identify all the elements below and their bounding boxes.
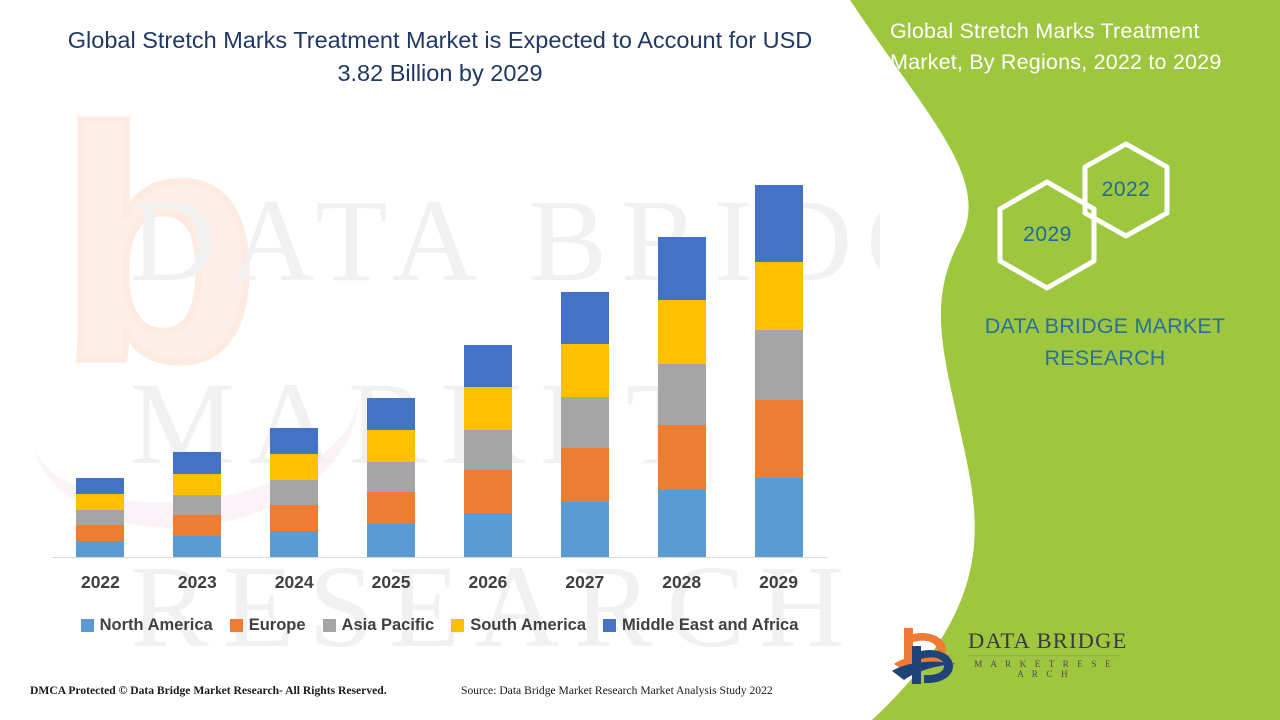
footer-source: Source: Data Bridge Market Research Mark…: [461, 684, 773, 697]
bar-segment: [367, 430, 415, 462]
hexagon-pair: 2022 2029: [975, 140, 1175, 280]
bar-segment: [367, 524, 415, 557]
bar-segment: [561, 292, 609, 344]
stacked-bar: [755, 185, 803, 557]
logo-wordmark: DATA BRIDGE M A R K E T R E S E A R C H: [968, 628, 1128, 679]
logo-mark-icon: [890, 624, 962, 686]
bar-segment: [270, 428, 318, 454]
plot-area: [52, 176, 827, 558]
legend-swatch-icon: [230, 619, 243, 632]
bar-segment: [755, 185, 803, 262]
stacked-bar: [367, 398, 415, 557]
bar-column-2028: [633, 176, 730, 557]
bar-group: [52, 176, 827, 557]
bar-column-2027: [536, 176, 633, 557]
legend-item[interactable]: Asia Pacific: [323, 616, 435, 635]
legend-label: Middle East and Africa: [622, 616, 798, 635]
x-axis-label-2026: 2026: [440, 572, 537, 593]
x-axis-label-2022: 2022: [52, 572, 149, 593]
legend-item[interactable]: Middle East and Africa: [603, 616, 798, 635]
bar-segment: [270, 531, 318, 557]
x-axis-labels: 20222023202420252026202720282029: [52, 572, 827, 593]
bar-segment: [367, 398, 415, 430]
legend-item[interactable]: North America: [81, 616, 213, 635]
bar-segment: [76, 510, 124, 525]
bar-segment: [173, 536, 221, 557]
bar-segment: [755, 262, 803, 330]
panel-title: Global Stretch Marks Treatment Market, B…: [890, 16, 1270, 78]
bar-segment: [561, 502, 609, 557]
legend-label: Asia Pacific: [342, 616, 435, 635]
bar-segment: [561, 397, 609, 448]
bar-segment: [464, 345, 512, 387]
bar-segment: [658, 237, 706, 300]
bar-column-2026: [440, 176, 537, 557]
bar-segment: [367, 462, 415, 492]
stacked-bar: [658, 237, 706, 557]
bar-column-2024: [246, 176, 343, 557]
legend-label: Europe: [249, 616, 306, 635]
legend-label: North America: [100, 616, 213, 635]
bar-segment: [173, 452, 221, 474]
bar-segment: [658, 490, 706, 557]
bar-column-2025: [343, 176, 440, 557]
bar-segment: [464, 430, 512, 470]
bar-segment: [76, 525, 124, 541]
bar-segment: [755, 330, 803, 400]
stacked-bar: [76, 478, 124, 557]
chart-legend: North AmericaEuropeAsia PacificSouth Ame…: [52, 616, 827, 635]
bar-segment: [76, 494, 124, 510]
stacked-bar: [561, 292, 609, 557]
x-axis-label-2027: 2027: [536, 572, 633, 593]
footer: DMCA Protected © Data Bridge Market Rese…: [0, 684, 880, 714]
stacked-bar: [270, 428, 318, 557]
bar-column-2022: [52, 176, 149, 557]
legend-item[interactable]: Europe: [230, 616, 306, 635]
bar-segment: [464, 387, 512, 430]
bar-segment: [76, 541, 124, 557]
stacked-bar: [464, 345, 512, 557]
bar-segment: [173, 474, 221, 495]
x-axis-label-2025: 2025: [343, 572, 440, 593]
data-bridge-logo: DATA BRIDGE M A R K E T R E S E A R C H: [890, 622, 1120, 694]
footer-copyright: DMCA Protected © Data Bridge Market Rese…: [30, 684, 387, 697]
bar-segment: [658, 300, 706, 364]
bar-segment: [658, 364, 706, 425]
bar-segment: [464, 513, 512, 557]
hexagon-2029: 2029: [995, 178, 1100, 292]
legend-swatch-icon: [323, 619, 336, 632]
bar-segment: [658, 425, 706, 490]
legend-item[interactable]: South America: [451, 616, 586, 635]
bar-segment: [270, 505, 318, 531]
bar-segment: [755, 400, 803, 478]
bar-segment: [367, 492, 415, 524]
x-axis-label-2028: 2028: [633, 572, 730, 593]
bar-segment: [561, 448, 609, 502]
x-axis-label-2024: 2024: [246, 572, 343, 593]
bar-segment: [464, 470, 512, 513]
legend-swatch-icon: [603, 619, 616, 632]
logo-rule-green: [968, 656, 1120, 658]
bar-segment: [755, 478, 803, 557]
legend-swatch-icon: [81, 619, 94, 632]
bar-segment: [173, 515, 221, 536]
legend-swatch-icon: [451, 619, 464, 632]
bar-column-2023: [149, 176, 246, 557]
bar-segment: [270, 480, 318, 505]
logo-subtitle: M A R K E T R E S E A R C H: [968, 659, 1120, 679]
bar-segment: [76, 478, 124, 494]
infographic-canvas: b DATA BRIDGE MARKET RESEARCH Global Str…: [0, 0, 1280, 720]
stacked-bar: [173, 452, 221, 557]
panel-brand-name: DATA BRIDGE MARKET RESEARCH: [955, 310, 1255, 374]
x-axis-label-2023: 2023: [149, 572, 246, 593]
chart-title: Global Stretch Marks Treatment Market is…: [60, 24, 820, 90]
hexagon-2029-label: 2029: [995, 223, 1100, 247]
bar-segment: [173, 495, 221, 515]
bar-segment: [270, 454, 318, 480]
legend-label: South America: [470, 616, 586, 635]
bar-segment: [561, 344, 609, 397]
logo-title: DATA BRIDGE: [968, 628, 1128, 654]
